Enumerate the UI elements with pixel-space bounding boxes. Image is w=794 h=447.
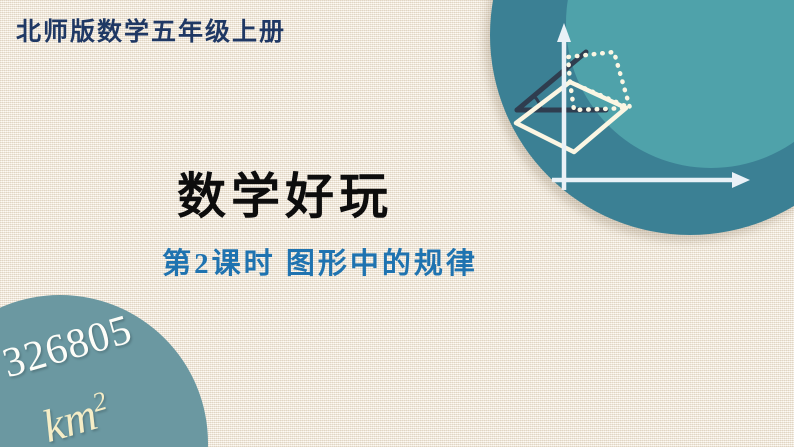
decorative-circle-bottom-left: 326805 km2 [0,295,208,447]
area-unit-label: km2 [37,384,116,447]
coordinate-axes-icon [552,23,750,190]
page-subtitle: 第2课时 图形中的规律 [0,240,640,282]
slide-canvas: 326805 km2 北师版数学五年级上册 数学好玩 第2课时 图形中的规律 [0,0,794,447]
angle-icon [517,52,606,110]
page-title: 数学好玩 [0,157,570,228]
area-number-label: 326805 [0,306,138,389]
textbook-edition-title: 北师版数学五年级上册 [16,12,286,48]
